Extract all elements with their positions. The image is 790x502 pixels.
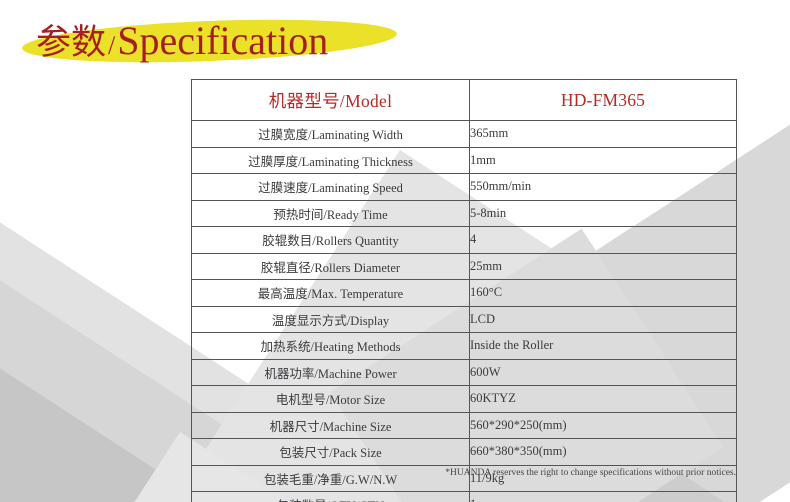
table-row: 机器尺寸/Machine Size560*290*250(mm) <box>192 412 737 439</box>
title-chinese: 参数 <box>36 23 106 62</box>
spec-value-cell: 660*380*350(mm) <box>470 439 737 466</box>
spec-label-cell: 胶辊数目/Rollers Quantity <box>192 227 470 254</box>
table-row: 电机型号/Motor Size60KTYZ <box>192 386 737 413</box>
table-row: 过膜宽度/Laminating Width365mm <box>192 121 737 148</box>
specification-page: 参数/Specification 机器型号/Model HD-FM365 过膜宽… <box>0 0 790 502</box>
spec-label-cell: 最高温度/Max. Temperature <box>192 280 470 307</box>
spec-value-cell: Inside the Roller <box>470 333 737 360</box>
table-row: 过膜厚度/Laminating Thickness1mm <box>192 147 737 174</box>
spec-label-cell: 包装尺寸/Pack Size <box>192 439 470 466</box>
spec-label-cell: 过膜厚度/Laminating Thickness <box>192 147 470 174</box>
title-english: Specification <box>117 18 328 63</box>
spec-value-cell: 560*290*250(mm) <box>470 412 737 439</box>
title-separator: / <box>106 31 117 60</box>
table-row: 机器功率/Machine Power600W <box>192 359 737 386</box>
header-value-cell: HD-FM365 <box>470 80 737 121</box>
spec-value-cell: 600W <box>470 359 737 386</box>
spec-label-cell: 加热系统/Heating Methods <box>192 333 470 360</box>
spec-label-cell: 过膜速度/Laminating Speed <box>192 174 470 201</box>
table-row: 加热系统/Heating MethodsInside the Roller <box>192 333 737 360</box>
spec-value-cell: 4 <box>470 227 737 254</box>
spec-value-cell: 160°C <box>470 280 737 307</box>
spec-value-cell: LCD <box>470 306 737 333</box>
spec-value-cell: 365mm <box>470 121 737 148</box>
spec-value-cell: 25mm <box>470 253 737 280</box>
spec-value-cell: 1pcs <box>470 492 737 502</box>
spec-label-cell: 胶辊直径/Rollers Diameter <box>192 253 470 280</box>
table-row: 包装数量/QTY/CTN1pcs <box>192 492 737 502</box>
spec-label-cell: 包装数量/QTY/CTN <box>192 492 470 502</box>
table-row: 胶辊数目/Rollers Quantity4 <box>192 227 737 254</box>
page-title: 参数/Specification <box>14 9 414 71</box>
spec-label-cell: 电机型号/Motor Size <box>192 386 470 413</box>
spec-value-cell: 550mm/min <box>470 174 737 201</box>
table-row: 胶辊直径/Rollers Diameter25mm <box>192 253 737 280</box>
spec-label-cell: 过膜宽度/Laminating Width <box>192 121 470 148</box>
spec-label-cell: 温度显示方式/Display <box>192 306 470 333</box>
table-row: 过膜速度/Laminating Speed550mm/min <box>192 174 737 201</box>
spec-label-cell: 机器功率/Machine Power <box>192 359 470 386</box>
table-row: 包装尺寸/Pack Size660*380*350(mm) <box>192 439 737 466</box>
spec-value-cell: 60KTYZ <box>470 386 737 413</box>
spec-label-cell: 预热时间/Ready Time <box>192 200 470 227</box>
title-text: 参数/Specification <box>36 13 328 74</box>
specification-table: 机器型号/Model HD-FM365 过膜宽度/Laminating Widt… <box>191 79 737 502</box>
spec-label-cell: 机器尺寸/Machine Size <box>192 412 470 439</box>
table-header-row: 机器型号/Model HD-FM365 <box>192 80 737 121</box>
table-row: 温度显示方式/DisplayLCD <box>192 306 737 333</box>
spec-value-cell: 5-8min <box>470 200 737 227</box>
footnote: *HUANDA reserves the right to change spe… <box>0 468 736 478</box>
spec-table-body: 机器型号/Model HD-FM365 过膜宽度/Laminating Widt… <box>192 80 737 502</box>
table-row: 预热时间/Ready Time5-8min <box>192 200 737 227</box>
header-label-cell: 机器型号/Model <box>192 80 470 121</box>
table-row: 最高温度/Max. Temperature160°C <box>192 280 737 307</box>
spec-value-cell: 1mm <box>470 147 737 174</box>
